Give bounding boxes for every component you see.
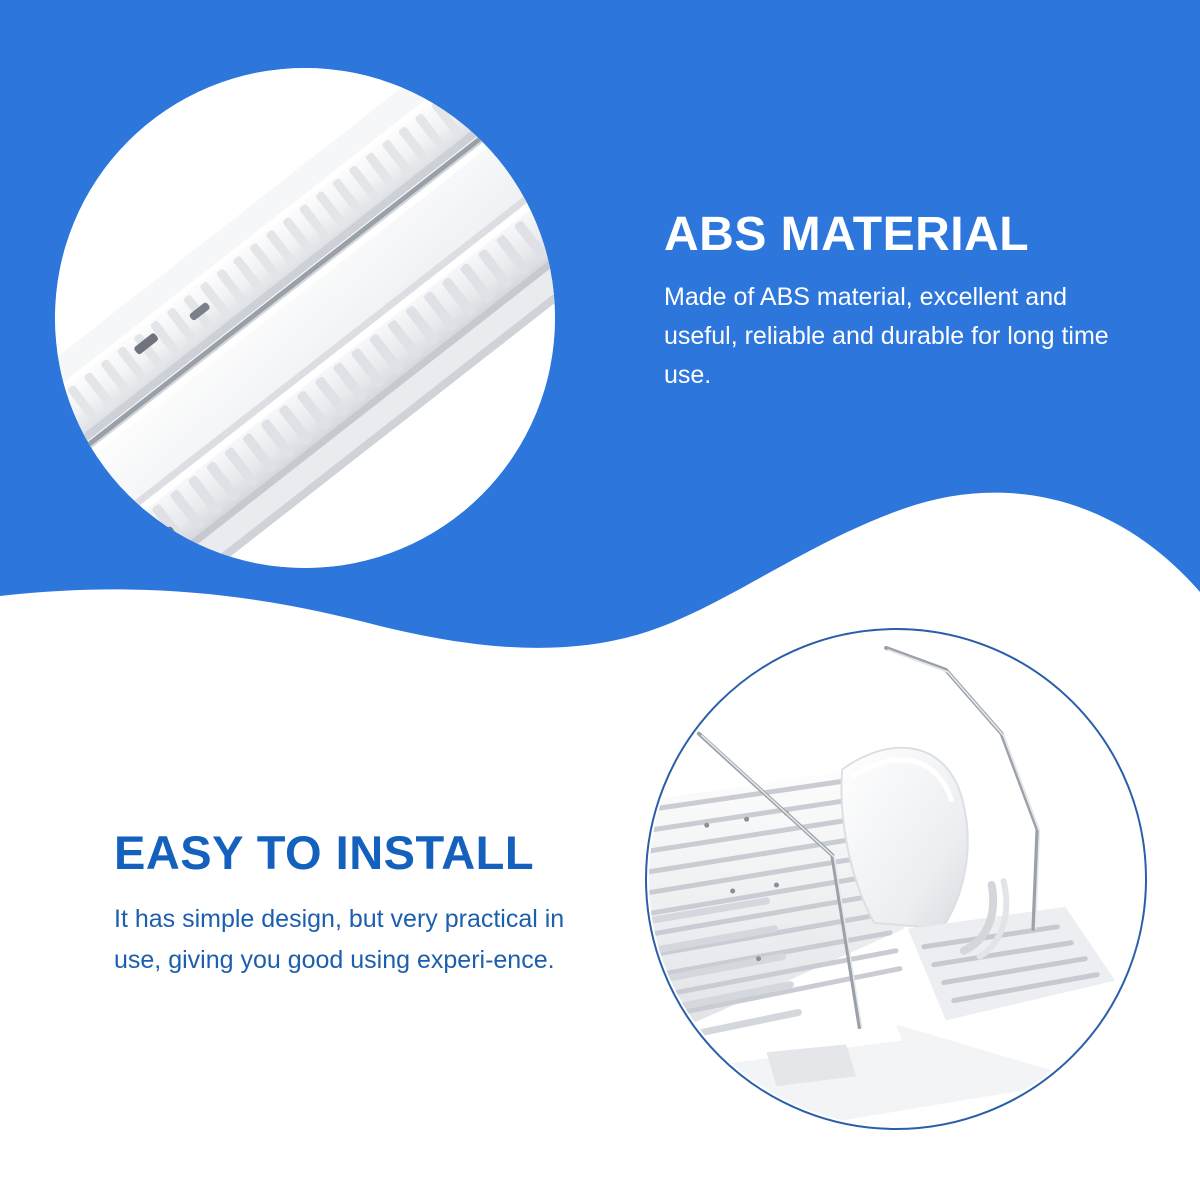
abs-material-headline: ABS MATERIAL — [664, 210, 1116, 260]
abs-material-body: Made of ABS material, excellent and usef… — [664, 278, 1116, 394]
feature-block-easy-to-install: EASY TO INSTALL It has simple design, bu… — [114, 828, 594, 980]
photo-easy-to-install — [645, 628, 1147, 1130]
infographic-page: ABS MATERIAL Made of ABS material, excel… — [0, 0, 1200, 1200]
dish-rack-rails-illustration — [55, 68, 555, 568]
photo-abs-material — [55, 68, 555, 568]
notch — [134, 525, 178, 563]
dish-rack-with-plate-illustration — [647, 630, 1145, 1128]
easy-to-install-body: It has simple design, but very practical… — [114, 899, 594, 980]
feature-block-abs-material: ABS MATERIAL Made of ABS material, excel… — [664, 210, 1116, 395]
easy-to-install-headline: EASY TO INSTALL — [114, 828, 594, 877]
